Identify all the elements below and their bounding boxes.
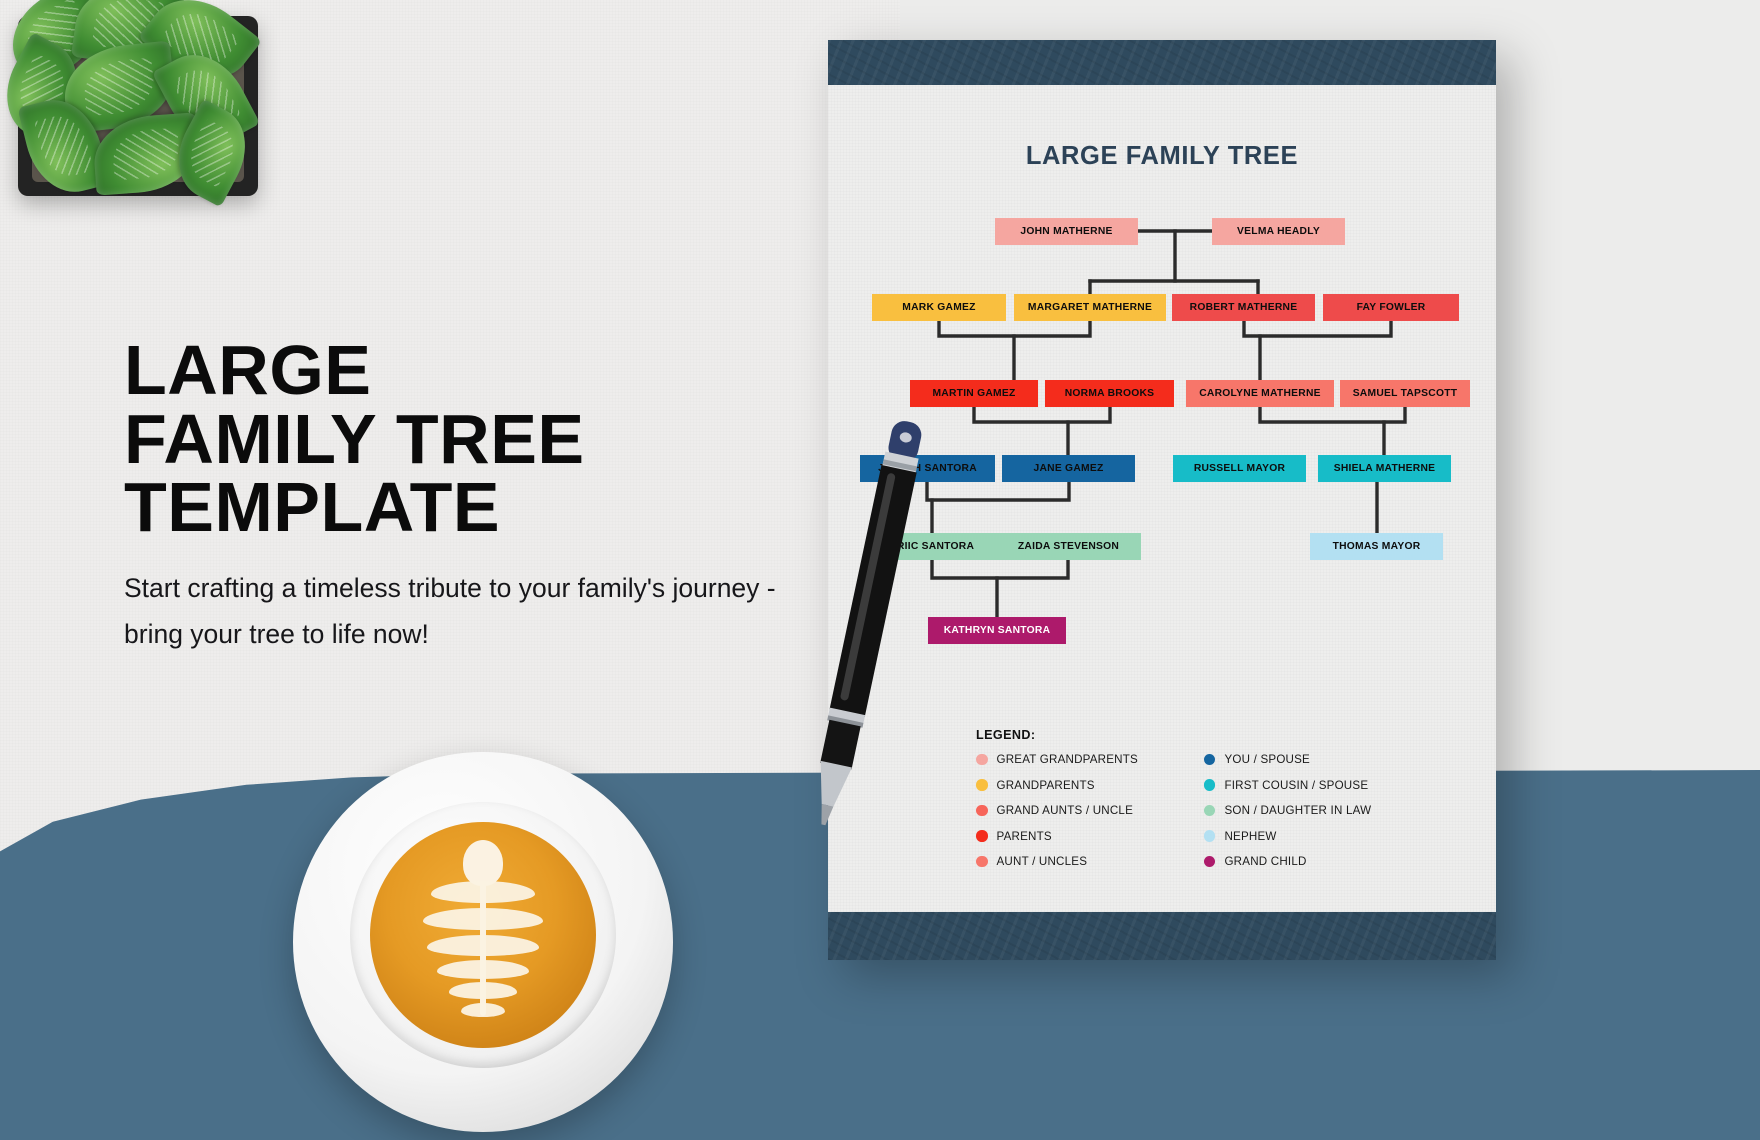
legend-color-dot <box>976 779 988 791</box>
legend-item: GRAND AUNTS / UNCLE <box>976 804 1138 817</box>
legend-item: NEPHEW <box>1204 830 1371 843</box>
tree-node[interactable]: MARGARET MATHERNE <box>1014 294 1166 321</box>
tree-node[interactable]: KATHRYN SANTORA <box>928 617 1066 644</box>
pen <box>800 400 940 840</box>
legend-color-dot <box>1204 779 1216 791</box>
legend-color-dot <box>1204 805 1216 817</box>
tree-node[interactable]: NORMA BROOKS <box>1045 380 1174 407</box>
tree-node[interactable]: SAMUEL TAPSCOTT <box>1340 380 1470 407</box>
legend-item-label: NEPHEW <box>1224 830 1276 843</box>
tree-node[interactable]: FAY FOWLER <box>1323 294 1459 321</box>
latte-art-frond <box>431 881 535 903</box>
legend-item: GRAND CHILD <box>1204 855 1371 868</box>
legend-item-label: PARENTS <box>997 830 1052 843</box>
legend-item: PARENTS <box>976 830 1138 843</box>
legend-color-dot <box>976 805 988 817</box>
latte-art-frond <box>449 982 517 999</box>
legend-item-label: AUNT / UNCLES <box>997 855 1088 868</box>
legend-column-left: GREAT GRANDPARENTS GRANDPARENTS GRAND AU… <box>976 753 1138 868</box>
tree-node[interactable]: ROBERT MATHERNE <box>1172 294 1315 321</box>
latte-art-frond <box>423 908 543 930</box>
legend-item: AUNT / UNCLES <box>976 855 1138 868</box>
legend-item: GRANDPARENTS <box>976 779 1138 792</box>
tree-node[interactable]: CAROLYNE MATHERNE <box>1186 380 1334 407</box>
legend: LEGEND: GREAT GRANDPARENTS GRANDPARENTS … <box>976 728 1476 868</box>
headline-line-2: FAMILY TREE <box>124 405 585 474</box>
latte-art-frond <box>437 960 529 979</box>
page-subtitle: Start crafting a timeless tribute to you… <box>124 566 784 657</box>
legend-item: YOU / SPOUSE <box>1204 753 1371 766</box>
tree-node[interactable]: RUSSELL MAYOR <box>1173 455 1306 482</box>
legend-item: SON / DAUGHTER IN LAW <box>1204 804 1371 817</box>
legend-color-dot <box>1204 856 1216 868</box>
legend-color-dot <box>976 856 988 868</box>
tree-node[interactable]: JOHN MATHERNE <box>995 218 1138 245</box>
legend-color-dot <box>976 754 988 766</box>
coffee-cup <box>350 802 616 1068</box>
headline-line-1: LARGE <box>124 336 585 405</box>
tree-node[interactable]: MARK GAMEZ <box>872 294 1006 321</box>
legend-item-label: GREAT GRANDPARENTS <box>997 753 1138 766</box>
tree-node[interactable]: ZAIDA STEVENSON <box>996 533 1141 560</box>
latte-art <box>370 822 596 1048</box>
legend-item-label: GRANDPARENTS <box>997 779 1095 792</box>
legend-item-label: SON / DAUGHTER IN LAW <box>1224 804 1371 817</box>
potted-plant <box>0 0 290 213</box>
tree-node[interactable]: VELMA HEADLY <box>1212 218 1345 245</box>
legend-color-dot <box>1204 830 1216 842</box>
legend-item: FIRST COUSIN / SPOUSE <box>1204 779 1371 792</box>
legend-item: GREAT GRANDPARENTS <box>976 753 1138 766</box>
legend-color-dot <box>1204 754 1216 766</box>
latte-art-frond <box>427 935 539 956</box>
legend-item-label: FIRST COUSIN / SPOUSE <box>1224 779 1368 792</box>
latte-art-frond <box>461 1003 505 1017</box>
tree-node[interactable]: SHIELA MATHERNE <box>1318 455 1451 482</box>
legend-title: LEGEND: <box>976 728 1476 742</box>
page-title: LARGE FAMILY TREE TEMPLATE <box>124 336 585 542</box>
tree-node[interactable]: THOMAS MAYOR <box>1310 533 1443 560</box>
legend-item-label: YOU / SPOUSE <box>1224 753 1310 766</box>
legend-item-label: GRAND AUNTS / UNCLE <box>997 804 1134 817</box>
legend-item-label: GRAND CHILD <box>1224 855 1306 868</box>
tree-node[interactable]: JANE GAMEZ <box>1002 455 1135 482</box>
coffee-saucer <box>293 752 673 1132</box>
legend-color-dot <box>976 830 988 842</box>
legend-column-right: YOU / SPOUSE FIRST COUSIN / SPOUSE SON /… <box>1204 753 1371 868</box>
headline-line-3: TEMPLATE <box>124 473 585 542</box>
